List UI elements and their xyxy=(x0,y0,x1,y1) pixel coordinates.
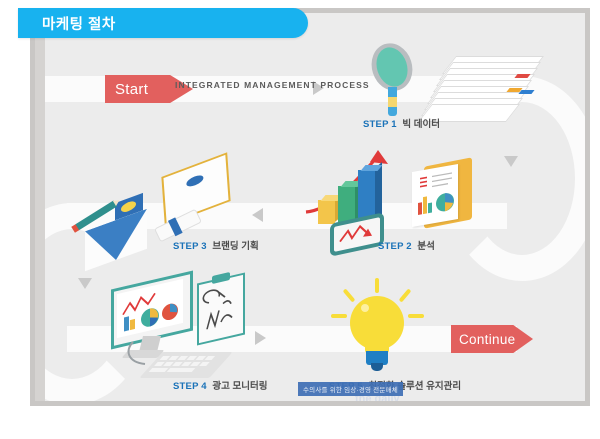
integrated-management-process-label: INTEGRATED MANAGEMENT PROCESS xyxy=(175,80,370,90)
step-3-title: 브랜딩 기획 xyxy=(212,241,258,252)
lightbulb-highlight xyxy=(361,304,369,312)
bulb-ray-top xyxy=(375,278,379,293)
sub-banner: 수의사를 위한 임상·경영 전문매체 xyxy=(298,382,403,396)
step-1-title: 빅 데이터 xyxy=(402,119,440,130)
step-3-number: STEP 3 xyxy=(173,241,207,252)
bar-yellow xyxy=(318,200,335,224)
step-4-number: STEP 4 xyxy=(173,381,207,392)
step-2-number: STEP 2 xyxy=(378,241,412,252)
step-3-caption: STEP 3 브랜딩 기획 xyxy=(173,238,259,252)
bulb-ray-top-left xyxy=(343,288,356,302)
left-gutter-bar xyxy=(35,38,45,401)
screenshot-root: 마케팅 절차 Start INTEGRATED MANAGEMENT PROCE… xyxy=(0,0,600,439)
bulb-ray-top-right xyxy=(399,288,412,302)
continue-label: Continue xyxy=(459,332,515,347)
step-1-number: STEP 1 xyxy=(363,119,397,130)
process-diagram-stage: Start INTEGRATED MANAGEMENT PROCESS Cont… xyxy=(45,38,585,401)
continue-chevron[interactable]: Continue xyxy=(451,325,533,353)
bulb-ray-right xyxy=(408,314,424,318)
clipboard-report-icon xyxy=(408,160,488,250)
step-1-illustration xyxy=(367,38,547,148)
start-label: Start xyxy=(115,81,148,98)
step-1-caption: STEP 1 빅 데이터 xyxy=(363,116,440,130)
step-5-illustration xyxy=(327,278,437,383)
clipboard-notes-icon xyxy=(197,272,245,345)
lightbulb-tip xyxy=(371,363,383,371)
step-2-title: 분석 xyxy=(417,241,434,252)
magnifier-icon xyxy=(372,43,418,123)
monitor-cable xyxy=(123,338,183,372)
flow-arrow-down-right xyxy=(504,156,518,167)
step-4-illustration xyxy=(85,274,295,389)
page-header-banner: 마케팅 절차 xyxy=(18,8,308,38)
step-2-caption: STEP 2 분석 xyxy=(378,238,435,252)
envelope-icon xyxy=(85,220,155,268)
page-title: 마케팅 절차 xyxy=(18,13,116,34)
bulb-ray-left xyxy=(331,314,347,318)
